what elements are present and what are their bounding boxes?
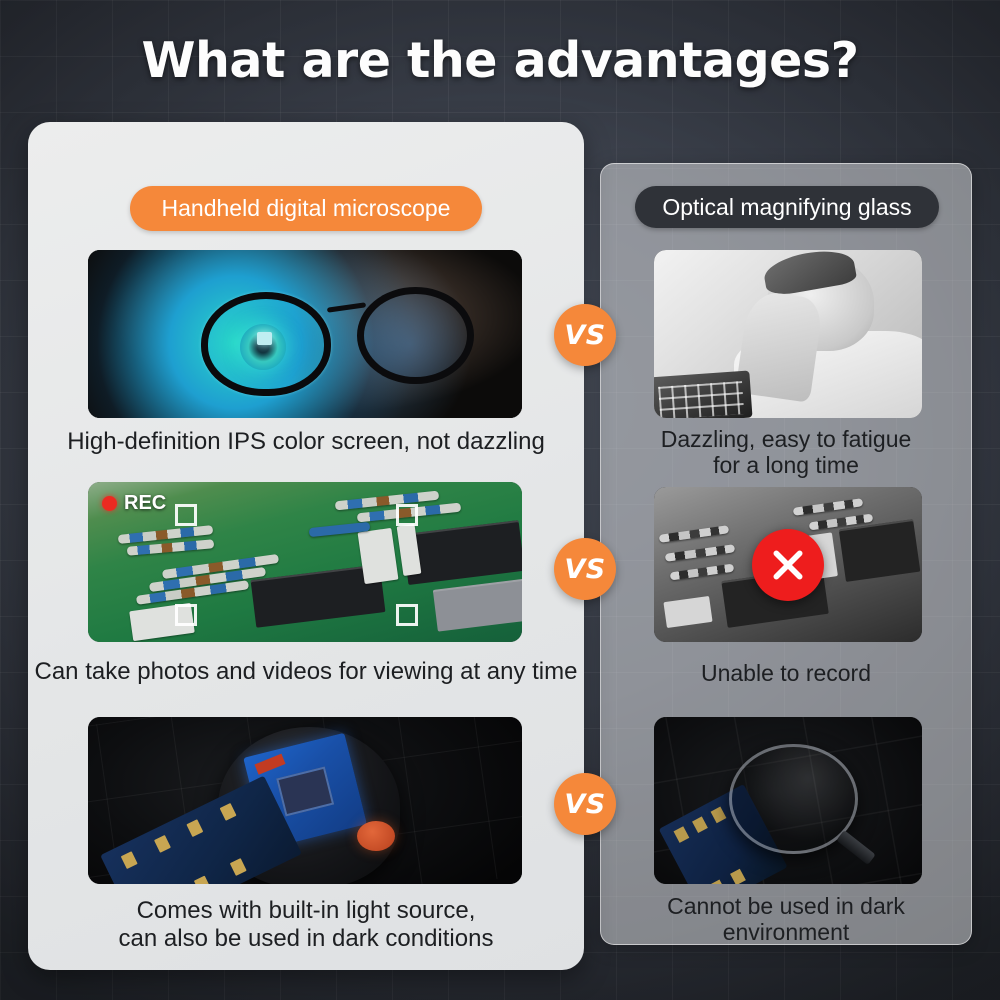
pcb-chip: [402, 520, 522, 585]
power-button-icon: [357, 821, 395, 851]
pcb-chip: [433, 579, 522, 632]
caption-photos-videos: Can take photos and videos for viewing a…: [28, 658, 584, 686]
x-circle-icon: [752, 529, 824, 601]
fatigued-man-illustration: [654, 250, 922, 418]
pcb-pad: [219, 803, 236, 821]
rec-indicator: REC: [102, 492, 166, 515]
caption-cannot-use-dark: Cannot be used in dark environment: [600, 893, 972, 946]
device-keypad: [658, 382, 744, 418]
magnifying-glass-dark-illustration: [654, 717, 922, 884]
pcb-pad: [710, 879, 726, 884]
eye-glasses-illustration: [88, 250, 522, 418]
pcb-pad: [154, 835, 171, 853]
pcb-capacitor: [358, 528, 399, 584]
vs-marker-3: VS: [554, 773, 616, 835]
caption-built-in-light: Comes with built-in light source, can al…: [28, 897, 584, 952]
pcb-pad: [186, 819, 203, 837]
photo-unable-to-record: [654, 487, 922, 642]
caption-dazzling-fatigue: Dazzling, easy to fatigue for a long tim…: [600, 426, 972, 479]
photo-recording-circuit-board: REC: [88, 482, 522, 642]
caption-unable-to-record: Unable to record: [600, 660, 972, 686]
caption-line: for a long time: [600, 452, 972, 478]
pcb-pad: [731, 868, 747, 884]
bench-device: [654, 371, 752, 418]
pcb-resistor: [793, 498, 863, 516]
vs-marker-1: VS: [554, 304, 616, 366]
caption-line: Dazzling, easy to fatigue: [600, 426, 972, 452]
pcb-pad: [230, 858, 247, 876]
pcb-pad: [121, 851, 138, 869]
pcb-resistor: [659, 526, 729, 544]
caption-line: High-definition IPS color screen, not da…: [28, 428, 584, 456]
vs-marker-2: VS: [554, 538, 616, 600]
caption-line: can also be used in dark conditions: [28, 925, 584, 953]
optical-magnifier-badge: Optical magnifying glass: [635, 186, 939, 228]
caption-line: Unable to record: [600, 660, 972, 686]
photo-cannot-use-in-dark: [654, 717, 922, 884]
pcb-resistor: [665, 544, 735, 562]
record-dot-icon: [102, 496, 117, 511]
caption-line: Comes with built-in light source,: [28, 897, 584, 925]
display-chip-die: [276, 766, 334, 816]
green-pcb-illustration: REC: [88, 482, 522, 642]
photo-ips-color-screen: [88, 250, 522, 418]
caption-line: environment: [600, 919, 972, 945]
grayscale-pcb-illustration: [654, 487, 922, 642]
rec-label: REC: [124, 492, 166, 515]
pcb-pad: [711, 806, 727, 823]
pcb-chip: [838, 519, 920, 582]
pcb-pad: [194, 875, 211, 884]
focus-bracket-icon: [175, 604, 197, 626]
caption-ips-color-screen: High-definition IPS color screen, not da…: [28, 428, 584, 456]
pcb-pad: [692, 816, 708, 833]
eye-pupil-highlight: [257, 332, 272, 345]
focus-bracket-icon: [396, 504, 418, 526]
pcb-capacitor: [663, 596, 712, 628]
photo-built-in-light-source: [88, 717, 522, 884]
pcb-resistor: [670, 563, 735, 580]
x-glyph: [768, 545, 808, 585]
photo-eye-fatigue: [654, 250, 922, 418]
eye-iris: [240, 324, 286, 370]
pcb-pad: [674, 826, 690, 843]
glasses-right-lens: [357, 287, 474, 384]
page-title: What are the advantages?: [0, 32, 1000, 89]
caption-line: Cannot be used in dark: [600, 893, 972, 919]
handheld-microscope-badge: Handheld digital microscope: [130, 186, 482, 231]
glasses-bridge: [327, 303, 366, 313]
caption-line: Can take photos and videos for viewing a…: [28, 658, 584, 686]
focus-bracket-icon: [396, 604, 418, 626]
focus-bracket-icon: [175, 504, 197, 526]
dark-workbench-illustration: [88, 717, 522, 884]
display-red-component: [255, 754, 286, 775]
